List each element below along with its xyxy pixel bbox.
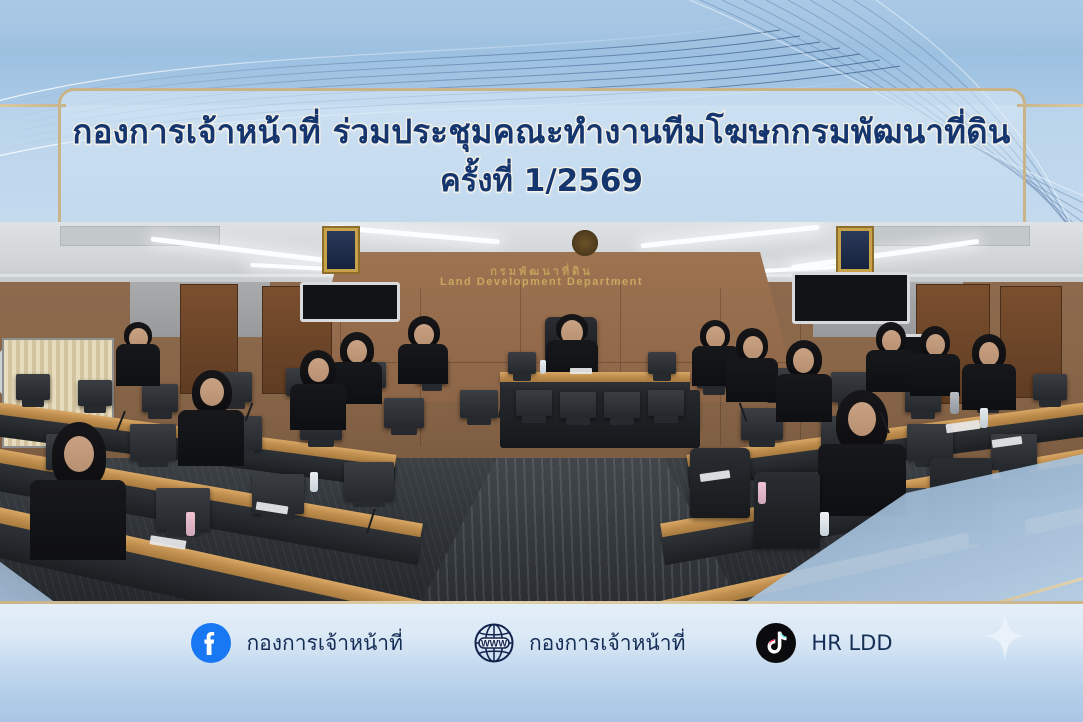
svg-text:WWW: WWW bbox=[481, 638, 507, 648]
monitor-left-3 bbox=[142, 384, 178, 412]
tiktok-label: HR LDD bbox=[811, 631, 892, 655]
page-title: กองการเจ้าหน้าที่ ร่วมประชุมคณะทำงานทีมโ… bbox=[0, 112, 1083, 152]
monitor-left-2 bbox=[78, 380, 112, 406]
tumbler-right bbox=[950, 392, 959, 414]
monitor-head-2 bbox=[648, 352, 676, 374]
display-screen-right bbox=[792, 272, 910, 324]
social-link-facebook[interactable]: กองการเจ้าหน้าที่ bbox=[190, 622, 402, 664]
four-point-star-sparkle bbox=[985, 612, 1025, 660]
footer-bar: กองการเจ้าหน้าที่ WWW กองกา bbox=[0, 604, 1083, 722]
monitor-left-9 bbox=[130, 424, 176, 460]
top-background-strip bbox=[0, 0, 1083, 57]
framed-portrait-right bbox=[836, 226, 874, 274]
website-label: กองการเจ้าหน้าที่ bbox=[529, 627, 685, 660]
headline-block: กองการเจ้าหน้าที่ ร่วมประชุมคณะทำงานทีมโ… bbox=[0, 112, 1083, 200]
monitor-left-12 bbox=[384, 398, 424, 428]
social-links-row: กองการเจ้าหน้าที่ WWW กองกา bbox=[0, 612, 1083, 674]
monitor-left-15 bbox=[156, 488, 210, 530]
monitor-left-17 bbox=[344, 462, 394, 500]
gold-frame-line-left bbox=[0, 104, 66, 107]
page-subtitle: ครั้งที่ 1/2569 bbox=[0, 162, 1083, 201]
photo-content: กรมพัฒนาที่ดิน Land Development Departme… bbox=[0, 222, 1083, 604]
department-crest bbox=[572, 230, 598, 256]
monitor-right-1 bbox=[1033, 374, 1067, 400]
monitor-left-1 bbox=[16, 374, 50, 400]
bottle-left-1 bbox=[186, 512, 195, 536]
banner-root: กองการเจ้าหน้าที่ ร่วมประชุมคณะทำงานทีมโ… bbox=[0, 0, 1083, 722]
meeting-photo: กรมพัฒนาที่ดิน Land Development Departme… bbox=[0, 222, 1083, 604]
chair-foreground-1 bbox=[690, 448, 750, 518]
display-screen-left bbox=[300, 282, 400, 322]
gold-frame-line-right bbox=[1017, 104, 1083, 107]
bottle-left-2 bbox=[310, 472, 318, 492]
framed-portrait-left bbox=[322, 226, 360, 274]
facebook-label: กองการเจ้าหน้าที่ bbox=[246, 627, 402, 660]
social-link-tiktok[interactable]: HR LDD bbox=[755, 622, 892, 664]
bottle-head bbox=[540, 360, 546, 374]
social-link-website[interactable]: WWW กองการเจ้าหน้าที่ bbox=[473, 622, 685, 664]
bottle-right-3 bbox=[980, 408, 988, 428]
globe-www-icon[interactable]: WWW bbox=[473, 622, 515, 664]
monitor-left-13 bbox=[460, 390, 498, 418]
bottle-right-2 bbox=[820, 512, 829, 536]
tiktok-icon[interactable] bbox=[755, 622, 797, 664]
bottle-right-1 bbox=[758, 482, 766, 504]
monitor-head-1 bbox=[508, 352, 536, 374]
facebook-icon[interactable] bbox=[190, 622, 232, 664]
